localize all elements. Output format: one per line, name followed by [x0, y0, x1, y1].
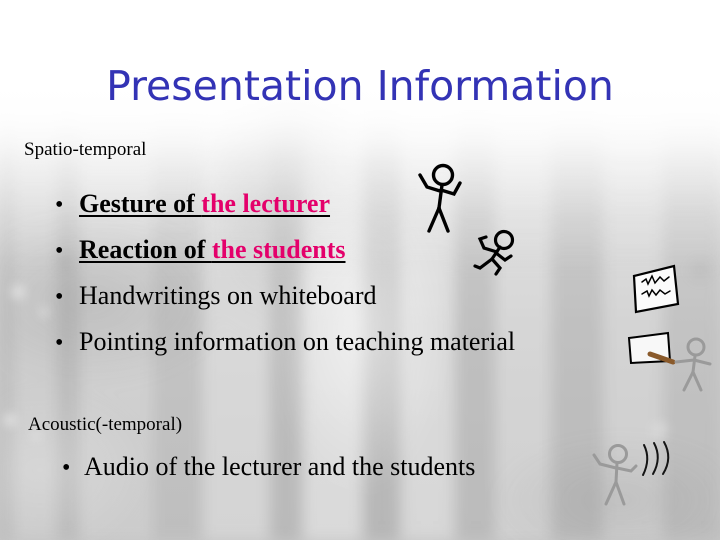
- speaking-stick-figure: [594, 446, 636, 505]
- section-label-spatio-temporal: Spatio-temporal: [24, 139, 146, 161]
- bullet-marker-icon: •: [55, 193, 79, 217]
- presenter-pointing-stick-figure: [676, 339, 710, 390]
- bullet-pointing: • Pointing information on teaching mater…: [55, 327, 515, 357]
- bullet-reaction-lead: Reaction of: [79, 235, 212, 264]
- bullet-marker-icon: •: [55, 239, 79, 263]
- bullet-gesture-accent: the lecturer: [201, 189, 330, 218]
- teaching-material-illustration: [626, 330, 720, 394]
- bullet-gesture-text: Gesture of the lecturer: [79, 189, 330, 219]
- slide-title: Presentation Information: [0, 62, 720, 110]
- bullet-pointing-text: Pointing information on teaching materia…: [79, 327, 515, 357]
- presentation-slide: Presentation Information Spatio-temporal…: [0, 0, 720, 540]
- audio-illustration: [586, 440, 680, 512]
- bullet-gesture-lead: Gesture of: [79, 189, 201, 218]
- lecturer-gesturing-stick-figure: [410, 163, 470, 238]
- student-reacting-stick-figure: [472, 228, 522, 278]
- bullet-audio: • Audio of the lecturer and the students: [62, 452, 475, 482]
- sound-waves: [643, 442, 668, 475]
- whiteboard-with-handwriting: [630, 264, 686, 322]
- bullet-gesture: • Gesture of the lecturer: [55, 189, 330, 219]
- bullet-reaction: • Reaction of the students: [55, 235, 346, 265]
- bullet-marker-icon: •: [55, 285, 79, 309]
- bullet-reaction-text: Reaction of the students: [79, 235, 346, 265]
- bullet-handwritings: • Handwritings on whiteboard: [55, 281, 377, 311]
- bullet-audio-text: Audio of the lecturer and the students: [84, 452, 475, 482]
- section-label-acoustic-temporal: Acoustic(-temporal): [28, 414, 182, 436]
- bullet-marker-icon: •: [55, 331, 79, 355]
- bullet-marker-icon: •: [62, 456, 84, 480]
- bullet-reaction-accent: the students: [212, 235, 346, 264]
- bullet-handwritings-text: Handwritings on whiteboard: [79, 281, 377, 311]
